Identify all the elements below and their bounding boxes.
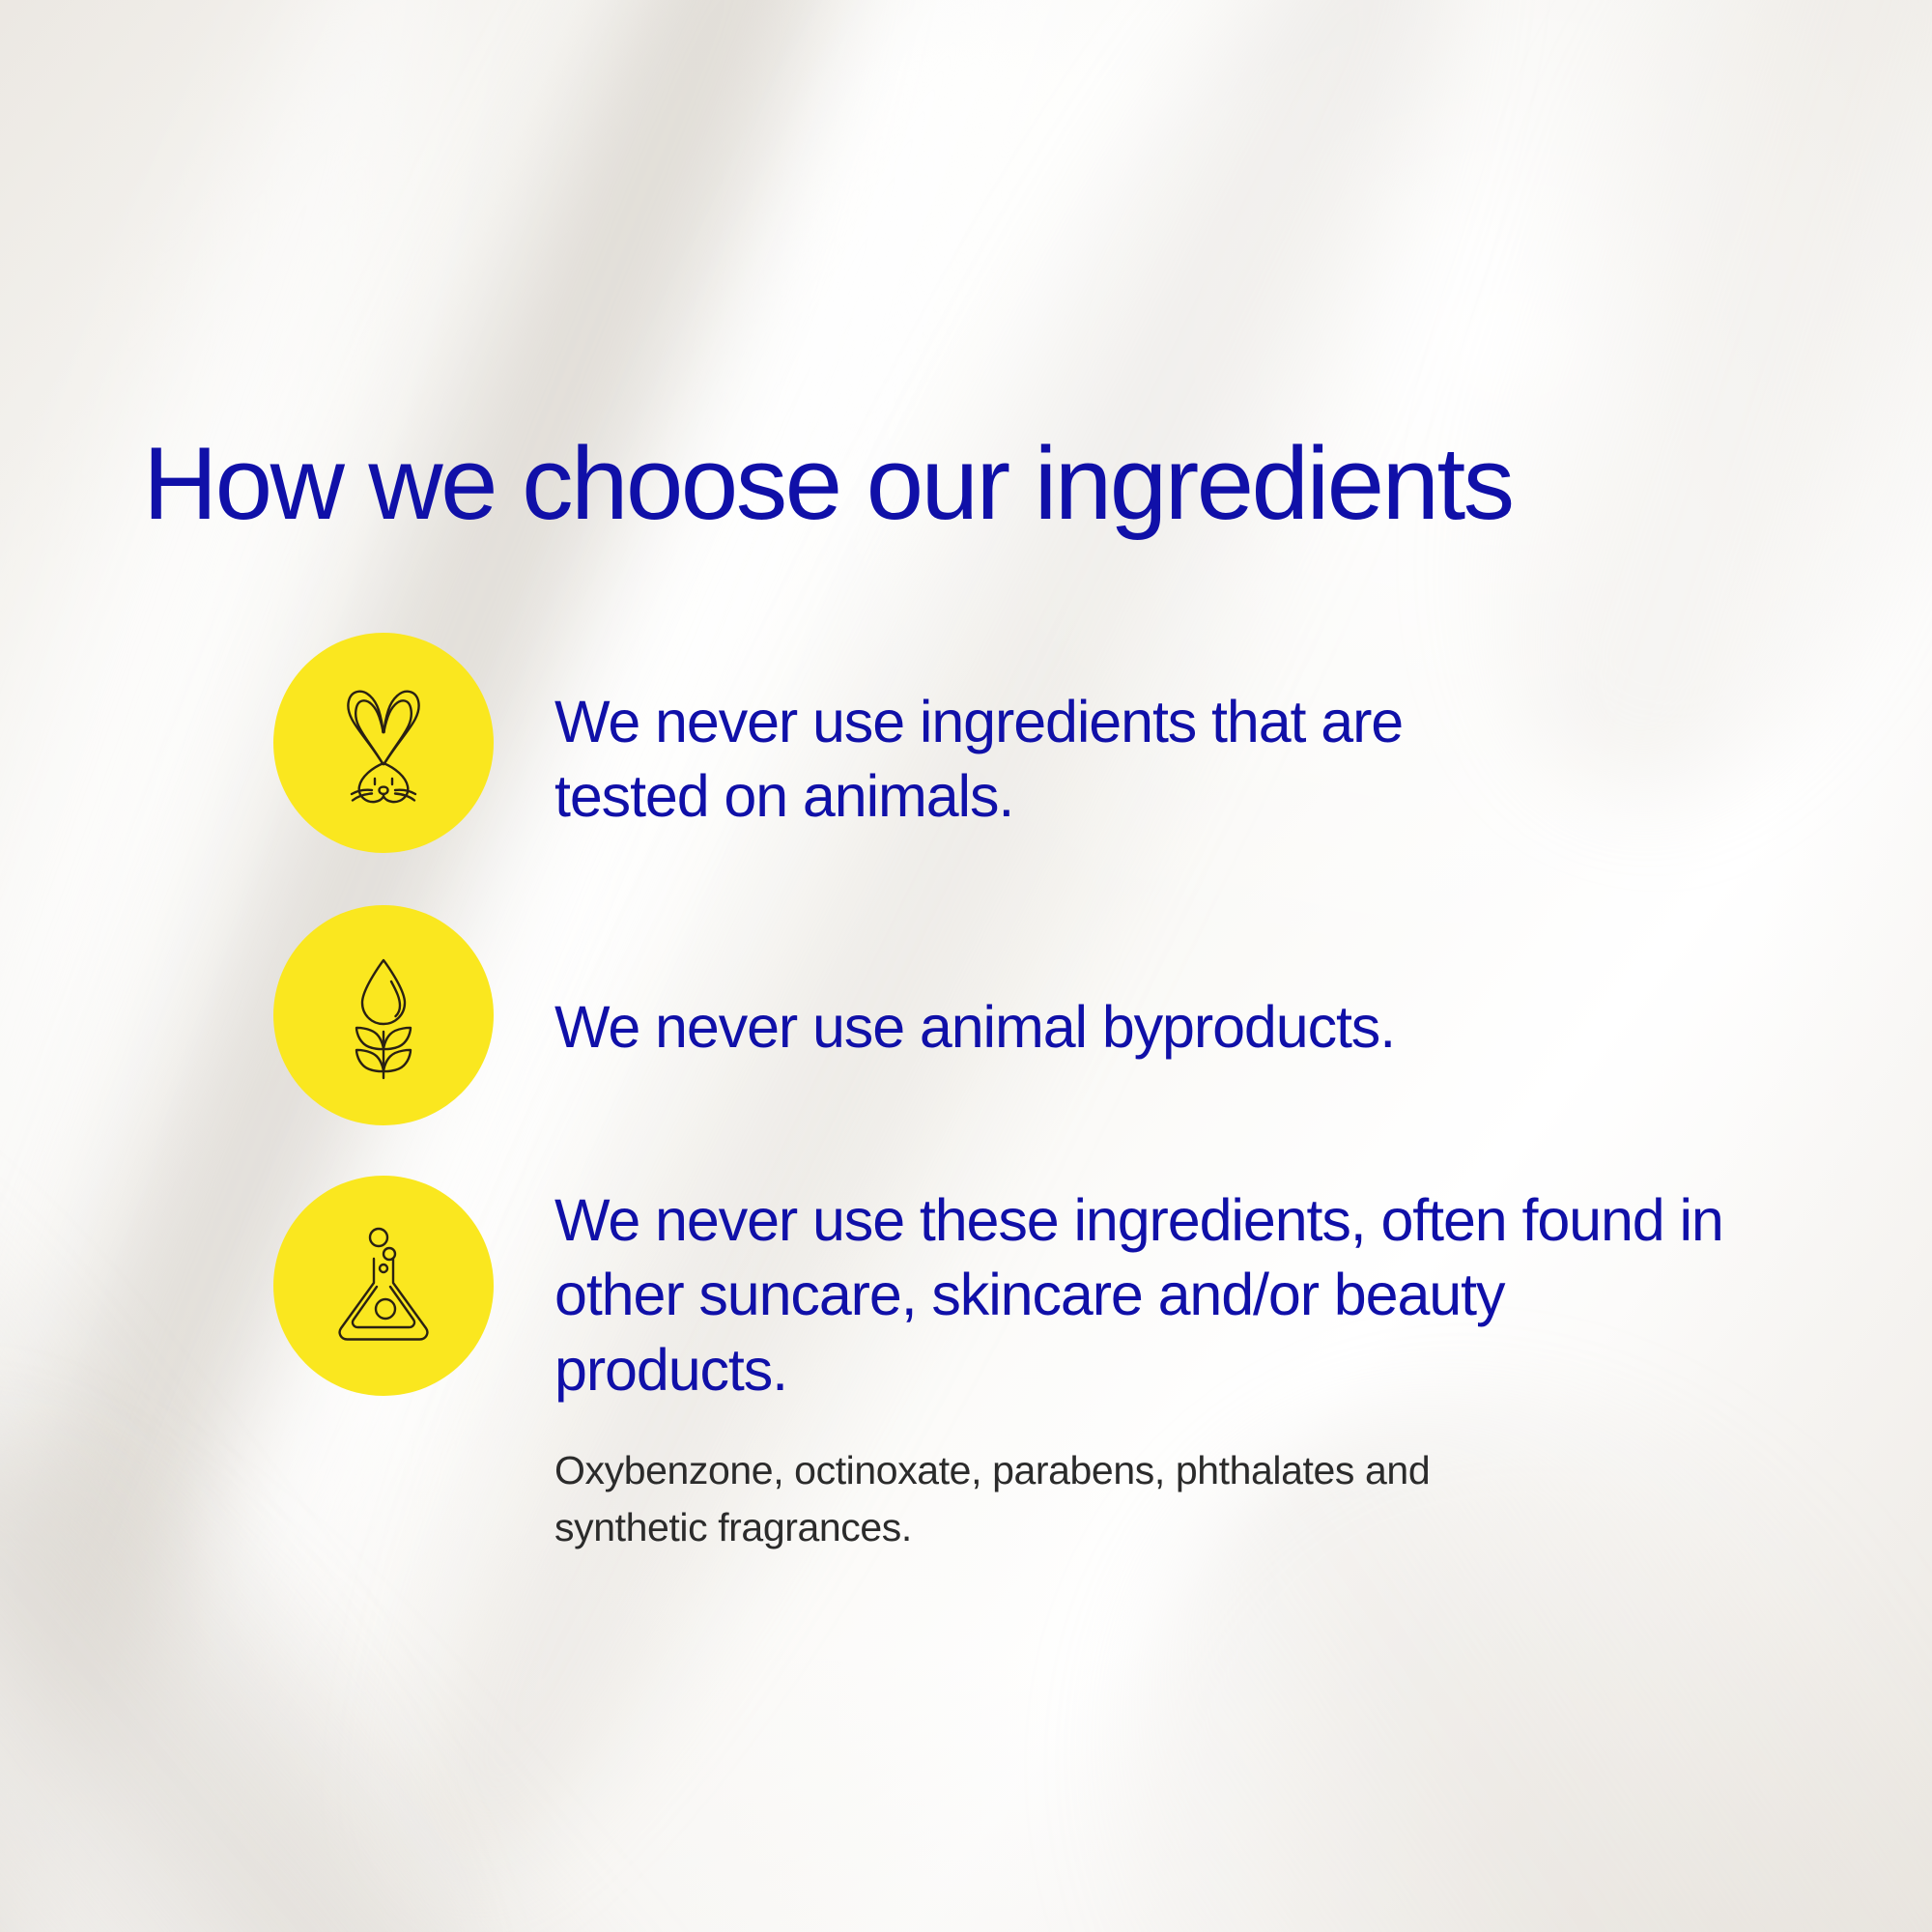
- plant-droplet-icon: [273, 905, 494, 1125]
- list-item-label: We never use these ingredients, often fo…: [554, 1183, 1743, 1407]
- chemistry-flask-icon: [273, 1176, 494, 1396]
- list-item: We never use ingredients that are tested…: [273, 633, 1819, 853]
- benefits-list: We never use ingredients that are tested…: [273, 633, 1819, 1555]
- list-item-label: We never use animal byproducts.: [554, 990, 1395, 1065]
- list-item: We never use animal byproducts.: [273, 905, 1819, 1125]
- bunny-heart-ears-icon: [273, 633, 494, 853]
- list-item-label: We never use ingredients that are tested…: [554, 685, 1424, 835]
- list-item-content: We never use these ingredients, often fo…: [554, 1176, 1743, 1555]
- list-item-content: We never use animal byproducts.: [554, 905, 1395, 1065]
- list-item: We never use these ingredients, often fo…: [273, 1176, 1819, 1555]
- list-item-content: We never use ingredients that are tested…: [554, 633, 1424, 835]
- promo-card: How we choose our ingredients: [0, 0, 1932, 1932]
- excluded-ingredients-note: Oxybenzone, octinoxate, parabens, phthal…: [554, 1442, 1520, 1554]
- page-title: How we choose our ingredients: [143, 429, 1512, 537]
